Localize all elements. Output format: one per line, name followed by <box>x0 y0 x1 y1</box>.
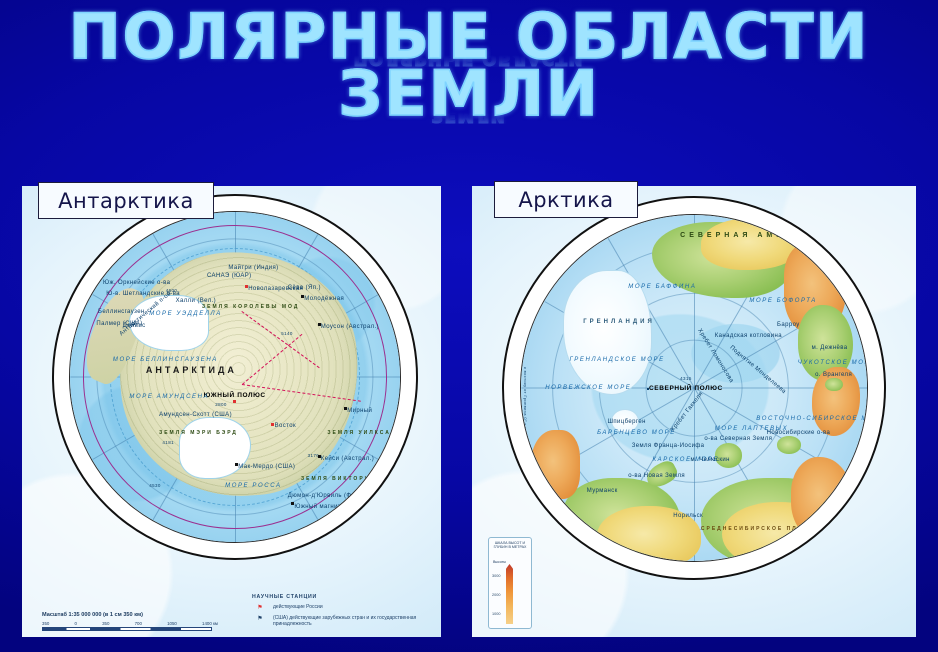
title-line-1-reflection: ПОЛЯРНЫЕ ОБЛАСТИ <box>69 52 869 67</box>
callout-antarctic[interactable]: Антарктика <box>38 182 214 219</box>
elevation-color-column <box>506 564 513 624</box>
svalbard-island <box>611 409 639 433</box>
wrangel-island <box>825 378 842 392</box>
station-marker-novolazarevskaya[interactable] <box>245 285 248 288</box>
arctic-map-panel[interactable]: 880°990°10100°11110°12120°13140°14150°15… <box>472 186 916 637</box>
station-marker-casey[interactable] <box>318 455 321 458</box>
station-marker-south-pole[interactable] <box>233 400 236 403</box>
arctic-map-disc: СЕВЕРНЫЙ ПОЛЮС 4315 СЕВЕРНАЯ АМЕРИКА ГРЕ… <box>520 214 868 562</box>
antarctic-station-legend: НАУЧНЫЕ СТАНЦИИ ⚑ действующие России ⚑ (… <box>252 594 432 631</box>
elevation-scale-word: Высоты <box>493 560 506 564</box>
scale-tick-label: 0 <box>74 621 76 626</box>
station-marker-mawson[interactable] <box>318 323 321 326</box>
antarctic-globe: 00°1120°1230°1340°1460°1570°1680°17100°1… <box>52 194 418 560</box>
arctic-globe: 880°990°10100°11110°12120°13140°14150°15… <box>502 196 886 580</box>
eastern-siberia-mountains <box>791 457 853 540</box>
station-marker-magnetic-pole[interactable] <box>291 502 294 505</box>
legend-item-foreign-label: действующие зарубежных стран и их госуда… <box>273 615 416 627</box>
title-line-1: ПОЛЯРНЫЕ ОБЛАСТИ <box>69 8 869 67</box>
title-line-2: ЗЕМЛИ <box>338 65 599 124</box>
west-siberian-plain-land <box>597 506 701 562</box>
scale-tick-labels: 350035070010501400 км <box>42 621 218 626</box>
foreign-station-flag-icon: ⚑ <box>252 615 268 622</box>
novosibirsk-islands <box>777 436 801 453</box>
title-line-2-reflection: ЗЕМЛИ <box>338 109 599 124</box>
severnaya-zemlya-island <box>715 443 743 467</box>
elevation-value-1000: 1000 <box>492 612 500 616</box>
legend-item-russian-label: действующие России <box>273 604 323 610</box>
elevation-value-3000: 3000 <box>492 574 500 578</box>
scale-tick-label: 350 <box>42 621 49 626</box>
antarctic-map-panel[interactable]: 00°1120°1230°1340°1460°1570°1680°17100°1… <box>22 186 441 637</box>
scale-tick-label: 700 <box>135 621 142 626</box>
arctic-elevation-scale: ШКАЛА ВЫСОТ И ГЛУБИН В МЕТРАХ Высоты 300… <box>488 537 532 629</box>
scandinavian-mountains <box>531 430 579 499</box>
station-marker-mcmurdo[interactable] <box>235 463 238 466</box>
ronne-ice-shelf <box>129 295 208 351</box>
slide-title: ПОЛЯРНЫЕ ОБЛАСТИ ПОЛЯРНЫЕ ОБЛАСТИ ЗЕМЛИ … <box>0 8 938 124</box>
legend-title: НАУЧНЫЕ СТАНЦИИ <box>252 594 432 600</box>
station-marker-molodezhnaya[interactable] <box>301 295 304 298</box>
station-marker-mirny[interactable] <box>344 407 347 410</box>
antarctic-map-disc: АНТАРКТИДА ЮЖНЫЙ ПОЛЮС 2800 Амундсен-Ско… <box>69 211 401 543</box>
elevation-scale-title: ШКАЛА ВЫСОТ И ГЛУБИН В МЕТРАХ <box>491 541 529 550</box>
callout-arctic[interactable]: Арктика <box>494 181 638 218</box>
scale-tick-label: 1400 км <box>202 621 218 626</box>
russian-station-flag-icon: ⚑ <box>252 604 268 611</box>
legend-item-foreign: ⚑ (США) действующие зарубежных стран и и… <box>252 615 432 627</box>
scale-tick-label: 350 <box>102 621 109 626</box>
slide-canvas: ПОЛЯРНЫЕ ОБЛАСТИ ПОЛЯРНЫЕ ОБЛАСТИ ЗЕМЛИ … <box>0 0 938 652</box>
north-pole-marker[interactable] <box>647 388 649 390</box>
scale-bar <box>42 627 212 631</box>
station-marker-vostok[interactable] <box>271 423 274 426</box>
scale-tick-label: 1050 <box>167 621 177 626</box>
elevation-value-2000: 2000 <box>492 593 500 597</box>
legend-item-russian: ⚑ действующие России <box>252 604 432 611</box>
